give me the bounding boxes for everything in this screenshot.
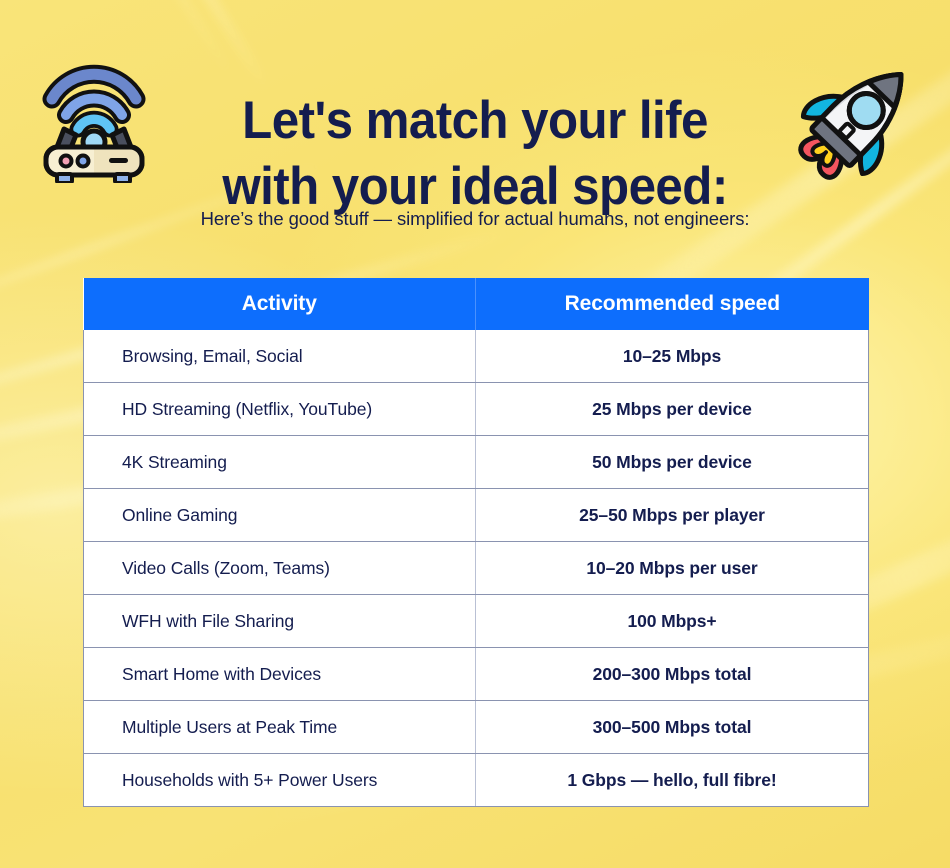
page-subtitle: Here’s the good stuff — simplified for a…: [0, 208, 950, 230]
table-row: Video Calls (Zoom, Teams)10–20 Mbps per …: [84, 542, 869, 595]
table-row: WFH with File Sharing100 Mbps+: [84, 595, 869, 648]
speed-table: Activity Recommended speed Browsing, Ema…: [83, 278, 869, 807]
cell-recommended-speed: 200–300 Mbps total: [476, 648, 869, 701]
table-row: Browsing, Email, Social10–25 Mbps: [84, 330, 869, 383]
table-row: Online Gaming25–50 Mbps per player: [84, 489, 869, 542]
cell-recommended-speed: 10–25 Mbps: [476, 330, 869, 383]
cell-recommended-speed: 25 Mbps per device: [476, 383, 869, 436]
cell-activity: Browsing, Email, Social: [84, 330, 476, 383]
table-header-row: Activity Recommended speed: [84, 278, 869, 330]
cell-activity: WFH with File Sharing: [84, 595, 476, 648]
cell-activity: Multiple Users at Peak Time: [84, 701, 476, 754]
column-header-speed: Recommended speed: [476, 278, 869, 330]
table-row: Smart Home with Devices200–300 Mbps tota…: [84, 648, 869, 701]
cell-activity: HD Streaming (Netflix, YouTube): [84, 383, 476, 436]
cell-recommended-speed: 300–500 Mbps total: [476, 701, 869, 754]
rocket-icon: [795, 52, 925, 182]
cell-recommended-speed: 25–50 Mbps per player: [476, 489, 869, 542]
cell-activity: Video Calls (Zoom, Teams): [84, 542, 476, 595]
title-line-1: Let's match your life: [33, 88, 917, 154]
table-row: Households with 5+ Power Users1 Gbps — h…: [84, 754, 869, 807]
cell-activity: Households with 5+ Power Users: [84, 754, 476, 807]
page-title: Let's match your life with your ideal sp…: [33, 88, 917, 220]
cell-recommended-speed: 1 Gbps — hello, full fibre!: [476, 754, 869, 807]
wifi-router-icon: [30, 55, 158, 183]
table-row: 4K Streaming50 Mbps per device: [84, 436, 869, 489]
speed-table-wrapper: Activity Recommended speed Browsing, Ema…: [83, 278, 868, 807]
cell-recommended-speed: 100 Mbps+: [476, 595, 869, 648]
cell-activity: Smart Home with Devices: [84, 648, 476, 701]
column-header-activity: Activity: [84, 278, 476, 330]
table-body: Browsing, Email, Social10–25 MbpsHD Stre…: [84, 330, 869, 807]
infographic-poster: Let's match your life with your ideal sp…: [0, 0, 950, 868]
table-row: Multiple Users at Peak Time300–500 Mbps …: [84, 701, 869, 754]
cell-activity: 4K Streaming: [84, 436, 476, 489]
table-head: Activity Recommended speed: [84, 278, 869, 330]
cell-activity: Online Gaming: [84, 489, 476, 542]
cell-recommended-speed: 10–20 Mbps per user: [476, 542, 869, 595]
cell-recommended-speed: 50 Mbps per device: [476, 436, 869, 489]
table-row: HD Streaming (Netflix, YouTube)25 Mbps p…: [84, 383, 869, 436]
